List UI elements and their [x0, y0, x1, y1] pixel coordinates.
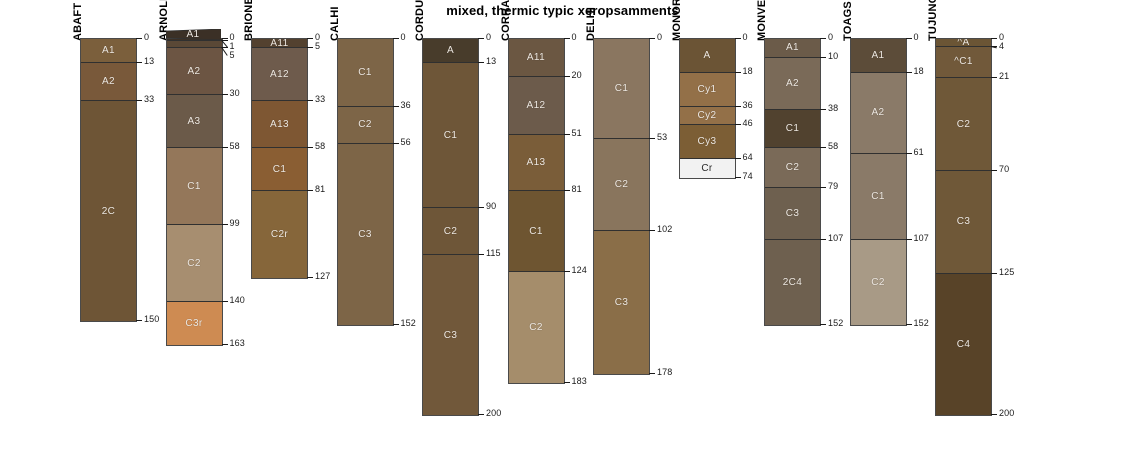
- horizon-label: C1: [615, 83, 629, 94]
- depth-tick-mark: [393, 38, 399, 39]
- depth-tick-label: 152: [914, 318, 929, 328]
- depth-tick-label: 18: [914, 66, 924, 76]
- depth-tick-mark: [820, 38, 826, 39]
- soil-horizon[interactable]: C2: [765, 148, 820, 187]
- horizon-label: C3: [444, 330, 458, 341]
- soil-horizon[interactable]: A: [423, 39, 478, 63]
- profile-column[interactable]: ACy1Cy2Cy3Cr: [679, 38, 736, 179]
- depth-tick-label: 79: [828, 181, 838, 191]
- profile-column[interactable]: ^A^C1C2C3C4: [935, 38, 992, 416]
- depth-tick-mark: [820, 239, 826, 240]
- profile-name-label: ARNOLD: [158, 0, 170, 41]
- depth-tick-label: 64: [743, 152, 753, 162]
- depth-tick-label: 10: [828, 51, 838, 61]
- horizon-label: 2C: [102, 206, 116, 217]
- horizon-label: C2r: [271, 229, 288, 240]
- profile-column[interactable]: A1A22C: [80, 38, 137, 322]
- depth-tick-label: 53: [657, 132, 667, 142]
- soil-horizon[interactable]: C2: [338, 107, 393, 145]
- depth-tick-label: 0: [401, 32, 406, 42]
- depth-tick-label: 90: [486, 201, 496, 211]
- depth-tick-label: 36: [743, 100, 753, 110]
- depth-tick-label: 125: [999, 267, 1014, 277]
- depth-tick-mark: [735, 158, 741, 159]
- depth-tick-mark: [649, 373, 655, 374]
- horizon-label: C1: [187, 181, 201, 192]
- depth-tick-mark: [222, 147, 228, 148]
- soil-horizon[interactable]: C3: [338, 144, 393, 324]
- depth-tick-label: 5: [315, 41, 320, 51]
- horizon-label: C1: [529, 226, 543, 237]
- depth-tick-label: 0: [486, 32, 491, 42]
- depth-tick-mark: [820, 57, 826, 58]
- soil-horizon[interactable]: C3: [765, 188, 820, 241]
- horizon-label: A1: [871, 50, 884, 61]
- soil-horizon[interactable]: Cy2: [680, 107, 735, 126]
- depth-tick-mark: [307, 100, 313, 101]
- depth-tick-mark: [307, 147, 313, 148]
- profile-column[interactable]: AC1C2C3: [422, 38, 479, 416]
- soil-horizon[interactable]: 2C4: [765, 240, 820, 325]
- horizon-label: A2: [102, 76, 115, 87]
- profile-name-label: ABAFT: [72, 3, 84, 41]
- horizon-label: C1: [871, 191, 885, 202]
- depth-tick-label: 107: [828, 233, 843, 243]
- soil-horizon[interactable]: Cr: [680, 159, 735, 178]
- horizon-label: C1: [273, 164, 287, 175]
- soil-horizon[interactable]: C2: [167, 225, 222, 302]
- profile-name-label: TOAGS: [842, 1, 854, 41]
- soil-horizon[interactable]: C2r: [252, 191, 307, 277]
- horizon-label: A: [447, 45, 454, 56]
- soil-horizon[interactable]: ^A: [936, 39, 991, 47]
- depth-tick-mark: [564, 382, 570, 383]
- profile-column[interactable]: A1A2C1C2: [850, 38, 907, 326]
- soil-horizon[interactable]: C4: [936, 274, 991, 415]
- profile-name-label: MONORIDGE: [671, 0, 683, 41]
- depth-tick-mark: [478, 62, 484, 63]
- horizon-label: C2: [615, 179, 629, 190]
- soil-horizon[interactable]: C1: [423, 63, 478, 208]
- soil-horizon[interactable]: A13: [509, 135, 564, 191]
- depth-tick-mark: [906, 72, 912, 73]
- horizon-label: C3r: [185, 318, 202, 329]
- soil-horizon[interactable]: A2: [851, 73, 906, 154]
- horizon-label: A2: [786, 78, 799, 89]
- depth-tick-label: 81: [572, 184, 582, 194]
- depth-tick-label: 13: [144, 56, 154, 66]
- depth-tick-label: 5: [230, 50, 235, 60]
- depth-tick-label: 4: [999, 41, 1004, 51]
- depth-tick-label: 58: [828, 141, 838, 151]
- depth-tick-mark: [136, 62, 142, 63]
- soil-horizon[interactable]: C1: [338, 39, 393, 107]
- depth-tick-label: 33: [144, 94, 154, 104]
- depth-tick-mark: [991, 273, 997, 274]
- depth-tick-mark: [820, 109, 826, 110]
- depth-tick-label: 58: [315, 141, 325, 151]
- depth-tick-label: 13: [486, 56, 496, 66]
- soil-horizon[interactable]: A13: [252, 101, 307, 148]
- depth-tick-label: 21: [999, 71, 1009, 81]
- profile-column[interactable]: A1A2C1C2C32C4: [764, 38, 821, 326]
- horizon-label: C2: [786, 162, 800, 173]
- depth-tick-mark: [820, 147, 826, 148]
- depth-tick-mark: [649, 138, 655, 139]
- depth-tick-label: 99: [230, 218, 240, 228]
- horizon-label: 2C4: [783, 277, 803, 288]
- soil-horizon[interactable]: C2: [509, 272, 564, 383]
- depth-tick-label: 0: [572, 32, 577, 42]
- soil-horizon[interactable]: A12: [252, 48, 307, 101]
- depth-tick-label: 38: [828, 103, 838, 113]
- depth-tick-label: 200: [486, 408, 501, 418]
- depth-tick-mark: [735, 72, 741, 73]
- soil-horizon[interactable]: C1: [594, 39, 649, 139]
- profile-name-label: DELHI: [585, 7, 597, 41]
- profile-name-label: MONVERO: [756, 0, 768, 41]
- depth-tick-mark: [649, 38, 655, 39]
- depth-tick-mark: [478, 207, 484, 208]
- depth-tick-mark: [564, 190, 570, 191]
- depth-tick-label: 150: [144, 314, 159, 324]
- depth-tick-label: 152: [828, 318, 843, 328]
- depth-tick-label: 56: [401, 137, 411, 147]
- depth-tick-mark: [564, 271, 570, 272]
- depth-tick-mark: [222, 94, 228, 95]
- profile-column[interactable]: C1C2C3: [593, 38, 650, 375]
- depth-tick-label: 33: [315, 94, 325, 104]
- horizon-label: A1: [786, 42, 799, 53]
- profile-name-label: CORRALITOS: [500, 0, 512, 41]
- soil-horizon[interactable]: Cy1: [680, 73, 735, 107]
- soil-horizon[interactable]: C1: [765, 110, 820, 148]
- soil-horizon[interactable]: A1: [851, 39, 906, 73]
- depth-tick-label: 124: [572, 265, 587, 275]
- depth-tick-mark: [906, 324, 912, 325]
- depth-tick-label: 115: [486, 248, 501, 258]
- depth-tick-mark: [564, 134, 570, 135]
- horizon-label: Cr: [701, 163, 712, 174]
- depth-tick-mark: [991, 170, 997, 171]
- horizon-label: A3: [187, 116, 200, 127]
- soil-horizon[interactable]: A: [680, 39, 735, 73]
- horizon-label: C2: [957, 119, 971, 130]
- depth-tick-label: 102: [657, 224, 672, 234]
- depth-tick-mark: [564, 76, 570, 77]
- horizon-label: C3: [615, 297, 629, 308]
- depth-tick-mark: [222, 301, 228, 302]
- depth-tick-label: 0: [914, 32, 919, 42]
- depth-tick-label: 74: [743, 171, 753, 181]
- horizon-label: C2: [444, 226, 458, 237]
- soil-horizon[interactable]: ^C1: [936, 47, 991, 79]
- depth-tick-mark: [649, 230, 655, 231]
- soil-horizon[interactable]: 2C: [81, 101, 136, 321]
- horizon-label: C1: [358, 67, 372, 78]
- soil-horizon[interactable]: A12: [509, 77, 564, 135]
- soil-horizon[interactable]: C3r: [167, 302, 222, 345]
- depth-tick-mark: [735, 106, 741, 107]
- soil-horizon[interactable]: C1: [252, 148, 307, 191]
- depth-tick-mark: [478, 254, 484, 255]
- depth-tick-mark: [735, 177, 741, 178]
- depth-tick-mark: [307, 190, 313, 191]
- horizon-label: A11: [270, 39, 288, 48]
- soil-horizon[interactable]: A2: [167, 48, 222, 95]
- depth-tick-mark: [820, 187, 826, 188]
- soil-horizon[interactable]: C1: [167, 148, 222, 225]
- depth-tick-label: 51: [572, 128, 582, 138]
- depth-tick-mark: [735, 124, 741, 125]
- depth-tick-label: 178: [657, 367, 672, 377]
- horizon-label: ^A: [957, 39, 969, 47]
- soil-horizon[interactable]: C2: [594, 139, 649, 231]
- soil-horizon[interactable]: A11: [509, 39, 564, 77]
- profile-name-label: CALHI: [329, 6, 341, 41]
- soil-horizon[interactable]: [167, 41, 222, 49]
- soil-horizon[interactable]: C3: [936, 171, 991, 274]
- depth-tick-mark: [564, 38, 570, 39]
- depth-tick-mark: [991, 38, 997, 39]
- soil-horizon[interactable]: C3: [423, 255, 478, 415]
- depth-tick-mark: [307, 47, 313, 48]
- depth-tick-mark: [136, 320, 142, 321]
- horizon-label: C1: [444, 130, 458, 141]
- soil-horizon[interactable]: C1: [851, 154, 906, 240]
- depth-tick-label: 152: [401, 318, 416, 328]
- horizon-label: Cy3: [698, 136, 717, 147]
- depth-tick-mark: [393, 143, 399, 144]
- soil-horizon[interactable]: A1: [81, 39, 136, 63]
- depth-tick-label: 140: [230, 295, 245, 305]
- horizon-label: C2: [529, 322, 543, 333]
- horizon-label: C1: [786, 123, 800, 134]
- horizon-label: C2: [358, 119, 372, 130]
- soil-horizon[interactable]: A2: [765, 58, 820, 111]
- depth-tick-mark: [906, 38, 912, 39]
- horizon-label: A1: [102, 45, 115, 56]
- depth-tick-mark: [222, 344, 228, 345]
- profile-column[interactable]: A2A3C1C2C3r: [166, 38, 223, 346]
- profile-column[interactable]: C1C2C3: [337, 38, 394, 326]
- soil-horizon[interactable]: A1: [765, 39, 820, 58]
- soil-horizon[interactable]: C3: [594, 231, 649, 374]
- horizon-label: ^C1: [954, 56, 973, 67]
- depth-tick-mark: [393, 106, 399, 107]
- horizon-label: C3: [957, 216, 971, 227]
- horizon-label: A11: [527, 52, 545, 63]
- soil-horizon[interactable]: C2: [423, 208, 478, 255]
- horizon-label: A12: [527, 100, 546, 111]
- depth-tick-label: 0: [828, 32, 833, 42]
- soil-horizon[interactable]: A11: [252, 39, 307, 48]
- depth-tick-mark: [991, 414, 997, 415]
- depth-tick-mark: [906, 239, 912, 240]
- depth-tick-label: 127: [315, 271, 330, 281]
- depth-tick-label: 0: [144, 32, 149, 42]
- horizon-label: C3: [786, 208, 800, 219]
- horizon-label: A: [703, 50, 710, 61]
- soil-horizon[interactable]: A2: [81, 63, 136, 101]
- depth-tick-label: 163: [230, 338, 245, 348]
- horizon-label: Cy2: [698, 110, 717, 121]
- depth-tick-label: 36: [401, 100, 411, 110]
- profile-name-label: BRIONES: [243, 0, 255, 41]
- depth-tick-label: 46: [743, 118, 753, 128]
- depth-tick-label: 58: [230, 141, 240, 151]
- depth-tick-mark: [307, 38, 313, 39]
- profile-column[interactable]: A11A12A13C1C2r: [251, 38, 308, 279]
- depth-tick-label: 200: [999, 408, 1014, 418]
- depth-tick-mark: [222, 38, 228, 39]
- horizon-label: A13: [527, 157, 546, 168]
- depth-tick-label: 30: [230, 88, 240, 98]
- horizon-label: C3: [358, 229, 372, 240]
- horizon-label: A13: [270, 119, 289, 130]
- horizon-label: A12: [270, 69, 289, 80]
- depth-tick-mark: [478, 38, 484, 39]
- soil-horizon[interactable]: C2: [936, 78, 991, 170]
- depth-tick-label: 0: [743, 32, 748, 42]
- depth-tick-mark: [820, 324, 826, 325]
- depth-tick-label: 107: [914, 233, 929, 243]
- depth-tick-label: 183: [572, 376, 587, 386]
- depth-tick-mark: [478, 414, 484, 415]
- horizon-label: A2: [871, 107, 884, 118]
- horizon-label: C2: [871, 277, 885, 288]
- profile-column[interactable]: A11A12A13C1C2: [508, 38, 565, 384]
- profile-name-label: TUJUNGA: [927, 0, 939, 41]
- depth-tick-label: 18: [743, 66, 753, 76]
- depth-tick-mark: [906, 153, 912, 154]
- horizon-label: C2: [187, 258, 201, 269]
- soil-horizon[interactable]: C2: [851, 240, 906, 325]
- profile-name-label: CORDUCCI: [414, 0, 426, 41]
- horizon-label: C4: [957, 339, 971, 350]
- depth-tick-mark: [222, 224, 228, 225]
- depth-tick-label: 61: [914, 147, 924, 157]
- soil-horizon[interactable]: A3: [167, 95, 222, 148]
- depth-tick-mark: [393, 324, 399, 325]
- depth-tick-label: 20: [572, 70, 582, 80]
- depth-tick-label: 81: [315, 184, 325, 194]
- depth-tick-label: 0: [657, 32, 662, 42]
- horizon-label: Cy1: [698, 84, 717, 95]
- depth-tick-mark: [991, 77, 997, 78]
- soil-horizon[interactable]: Cy3: [680, 125, 735, 159]
- depth-tick-mark: [735, 38, 741, 39]
- soil-profile-plot: ABAFTA1A22C01333150ARNOLDA2A3C1C2C3rA101…: [0, 0, 1125, 450]
- depth-tick-mark: [136, 38, 142, 39]
- depth-tick-mark: [136, 100, 142, 101]
- horizon-label: A2: [187, 66, 200, 77]
- depth-tick-mark: [307, 277, 313, 278]
- soil-horizon[interactable]: C1: [509, 191, 564, 272]
- depth-tick-label: 70: [999, 164, 1009, 174]
